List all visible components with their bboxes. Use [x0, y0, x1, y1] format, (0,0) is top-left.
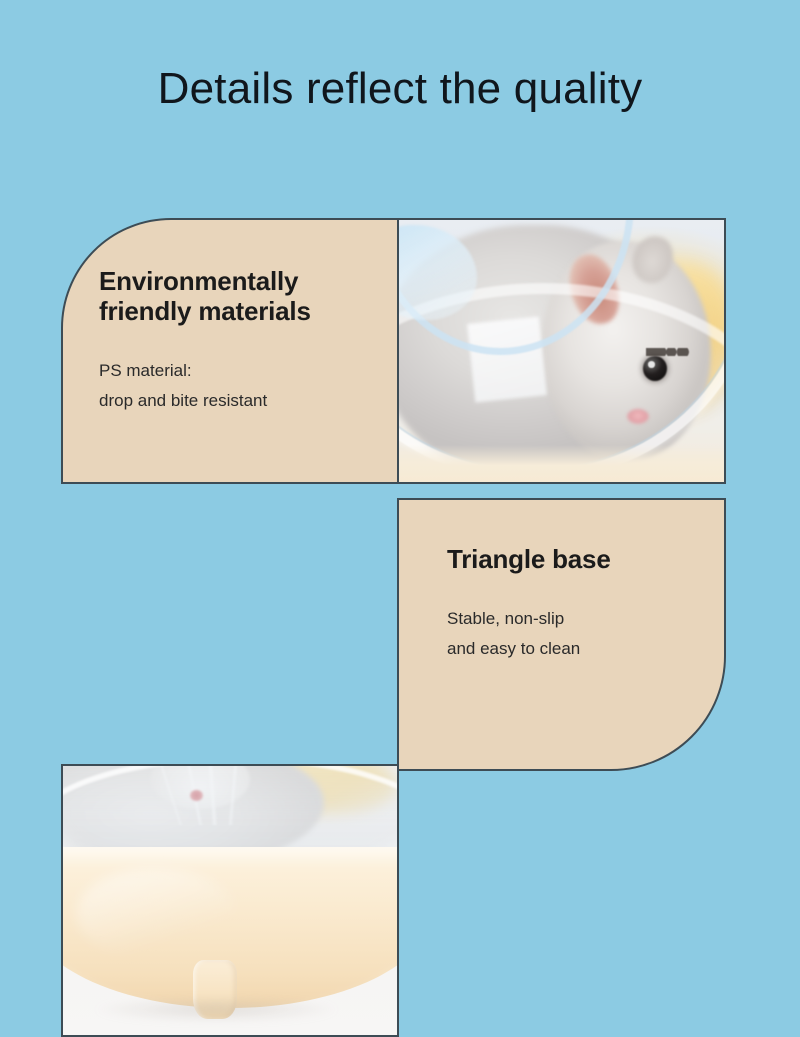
feature-card-environmentally-friendly-materials: Environmentally friendly materials PS ma… [61, 218, 399, 484]
feature-heading-line-1: Triangle base [447, 544, 698, 574]
photo-foreground-surface [399, 445, 724, 482]
feature-heading-line-2: friendly materials [99, 296, 371, 326]
photo-canvas [399, 220, 724, 482]
feature-text-block: Environmentally friendly materials PS ma… [63, 220, 397, 482]
page-header: Details reflect the quality [0, 0, 800, 219]
feature-body: PS material: drop and bite resistant [99, 356, 371, 416]
page-title: Details reflect the quality [158, 67, 643, 111]
feature-heading: Triangle base [447, 544, 698, 574]
feature-body: Stable, non-slip and easy to clean [447, 604, 698, 664]
feature-body-line-2: drop and bite resistant [99, 386, 371, 416]
feature-body-line-1: PS material: [99, 356, 371, 386]
feature-grid: Environmentally friendly materials PS ma… [61, 218, 726, 771]
plastic-speckles [646, 348, 692, 356]
photo-canvas [63, 766, 397, 1035]
product-photo-hamster-in-clear-sand-bath [397, 218, 726, 484]
feature-heading-line-1: Environmentally [99, 266, 371, 296]
base-drop-shadow [96, 997, 336, 1021]
base-highlight [76, 868, 236, 959]
feature-body-line-2: and easy to clean [447, 634, 698, 664]
feature-heading: Environmentally friendly materials [99, 266, 371, 326]
product-detail-page: Details reflect the quality Environmenta… [0, 0, 800, 800]
feature-text-block: Triangle base Stable, non-slip and easy … [399, 500, 724, 769]
hamster-eye [643, 356, 667, 381]
product-photo-cream-base-with-triangle-foot [61, 764, 399, 1037]
feature-body-line-1: Stable, non-slip [447, 604, 698, 634]
feature-card-triangle-base: Triangle base Stable, non-slip and easy … [397, 498, 726, 771]
